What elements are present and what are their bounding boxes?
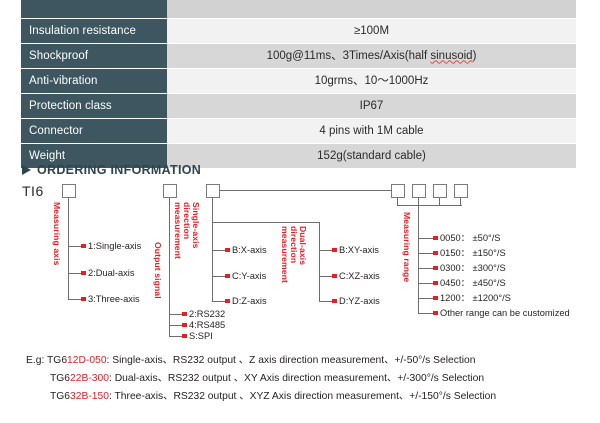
measuring-range-trunk — [418, 205, 419, 313]
option-output-signal-1: 2:RS232 — [189, 309, 225, 319]
bullet-square — [225, 248, 230, 253]
option-output-signal-2: 4:RS485 — [189, 320, 225, 330]
example-code-red-1: 12D-050 — [67, 355, 107, 366]
shockproof-post: ) — [473, 50, 477, 62]
option-dual-axis-1: B:XY-axis — [339, 245, 379, 255]
bullet-square — [433, 311, 438, 316]
example-code-black-1: TG6 — [47, 355, 67, 366]
bullet-square — [433, 236, 438, 241]
bullet-square — [182, 312, 187, 317]
triangle-right-icon — [22, 165, 31, 175]
specification-table: Insulation resistance ≥100M Shockproof 1… — [21, 0, 576, 169]
example-line-1: E.g: TG612D-050: Single-axis、RS232 outpu… — [0, 352, 600, 370]
option-single-axis-1: B:X-axis — [232, 245, 267, 255]
option-measuring-range-1: 0050： ±50°/S — [440, 233, 501, 243]
bullet-square — [433, 266, 438, 271]
bullet-square — [81, 297, 86, 302]
dual-axis-branch-1 — [319, 250, 333, 251]
spec-label-protection-class: Protection class — [21, 93, 167, 118]
bullet-square — [433, 296, 438, 301]
measuring-range-vertical-label: Measuring range — [402, 212, 411, 282]
option-measuring-range-4: 0450： ±450°/S — [440, 278, 506, 288]
bullet-square — [225, 299, 230, 304]
spec-label-connector: Connector — [21, 118, 167, 143]
spec-value-weight: 152g(standard cable) — [167, 143, 576, 168]
output-signal-branch-3 — [169, 336, 183, 337]
measuring-range-branch-5 — [418, 298, 434, 299]
spec-label-partial — [21, 0, 167, 18]
shockproof-pre: 100g@11ms、3Times/Axis(half — [267, 50, 431, 62]
option-output-signal-3: S:SPI — [189, 331, 213, 341]
dual-axis-label-line1: Dual-axis direction — [289, 226, 308, 265]
code-box-range-2[interactable] — [412, 184, 426, 198]
single-axis-branch-3 — [212, 301, 226, 302]
measuring-axis-branch-2 — [68, 273, 82, 274]
spec-value-anti-vibration: 10grms、10～1000Hz — [167, 68, 576, 93]
single-axis-branch-1 — [212, 250, 226, 251]
option-measuring-axis-3: 3:Three-axis — [88, 294, 140, 304]
table-row: Protection class IP67 — [21, 93, 576, 118]
spec-value-shockproof: 100g@11ms、3Times/Axis(half sinusoid) — [167, 43, 576, 68]
option-single-axis-2: C:Y-axis — [232, 271, 266, 281]
option-measuring-range-5: 1200： ±1200°/S — [440, 293, 511, 303]
option-dual-axis-2: C:XZ-axis — [339, 271, 380, 281]
bullet-square — [182, 334, 187, 339]
table-row: Anti-vibration 10grms、10～1000Hz — [21, 68, 576, 93]
measuring-range-branch-3 — [418, 268, 434, 269]
range-stem-4 — [460, 198, 461, 206]
measuring-axis-trunk — [68, 198, 69, 300]
single-axis-label-line2: measurement — [173, 202, 183, 259]
section-heading-text: ORDERING INFORMATION — [37, 163, 201, 177]
option-dual-axis-3: D:YZ-axis — [339, 296, 380, 306]
shockproof-wavy-text: sinusoid — [430, 50, 472, 62]
dual-axis-label-line2: measurement — [280, 226, 290, 283]
dual-axis-trunk — [319, 222, 320, 302]
bullet-square — [332, 248, 337, 253]
measuring-range-branch-2 — [418, 253, 434, 254]
single-axis-label-line1: Single-axis direction — [182, 202, 201, 248]
spec-value-connector: 4 pins with 1M cable — [167, 118, 576, 143]
code-box-measuring-axis[interactable] — [62, 184, 76, 198]
code-box-range-4[interactable] — [454, 184, 468, 198]
measuring-axis-vertical-label: Measuring axis — [52, 202, 61, 266]
spec-value-partial — [167, 0, 576, 18]
code-box-range-1[interactable] — [391, 184, 405, 198]
measuring-axis-branch-1 — [68, 246, 82, 247]
single-axis-vertical-label: Single-axis direction measurement — [172, 202, 200, 272]
table-row: Connector 4 pins with 1M cable — [21, 118, 576, 143]
measuring-range-branch-6 — [418, 313, 434, 314]
dual-axis-vertical-label: Dual-axis direction measurement — [279, 226, 307, 296]
table-row: Shockproof 100g@11ms、3Times/Axis(half si… — [21, 43, 576, 68]
example-desc-1: : Single-axis、RS232 output 、Z axis direc… — [107, 355, 476, 366]
example-code-red-3: 32B-150 — [70, 391, 109, 402]
option-single-axis-3: D:Z-axis — [232, 296, 267, 306]
range-bracket-line — [397, 205, 462, 206]
code-box-range-3[interactable] — [433, 184, 447, 198]
measuring-range-branch-4 — [418, 283, 434, 284]
example-code-black-2: TG6 — [50, 373, 70, 384]
table-row-partial — [21, 0, 576, 18]
dual-axis-branch-3 — [319, 301, 333, 302]
output-signal-branch-1 — [169, 314, 183, 315]
spec-value-insulation-resistance: ≥100M — [167, 18, 576, 43]
code-box-output-signal[interactable] — [163, 184, 177, 198]
bullet-square — [332, 299, 337, 304]
measuring-range-branch-1 — [418, 238, 434, 239]
spec-label-insulation-resistance: Insulation resistance — [21, 18, 167, 43]
connector-line-top — [220, 190, 392, 191]
code-box-axis-direction[interactable] — [206, 184, 220, 198]
bullet-square — [332, 274, 337, 279]
table-body: Insulation resistance ≥100M Shockproof 1… — [21, 0, 576, 168]
output-signal-vertical-label: Output signal — [153, 242, 162, 299]
range-stem-3 — [439, 198, 440, 206]
ordering-examples: E.g: TG612D-050: Single-axis、RS232 outpu… — [0, 352, 600, 406]
dual-axis-branch-2 — [319, 276, 333, 277]
example-desc-3: : Three-axis、RS232 output 、XYZ Axis dire… — [109, 391, 496, 402]
bullet-square — [182, 323, 187, 328]
example-code-black-3: TG6 — [50, 391, 70, 402]
example-prefix: E.g: — [26, 355, 44, 366]
option-measuring-range-6: Other range can be customized — [440, 308, 570, 318]
option-measuring-range-3: 0300： ±300°/S — [440, 263, 506, 273]
output-signal-branch-2 — [169, 325, 183, 326]
spec-label-shockproof: Shockproof — [21, 43, 167, 68]
range-stem-1 — [397, 198, 398, 206]
single-axis-branch-2 — [212, 276, 226, 277]
example-line-3: TG632B-150: Three-axis、RS232 output 、XYZ… — [0, 388, 600, 406]
example-code-red-2: 22B-300 — [70, 373, 109, 384]
bullet-square — [433, 281, 438, 286]
example-desc-2: : Dual-axis、RS232 output 、XY Axis direct… — [109, 373, 484, 384]
bullet-square — [225, 274, 230, 279]
measuring-axis-branch-3 — [68, 299, 82, 300]
model-prefix-label: TI6 — [22, 183, 44, 199]
spec-value-protection-class: IP67 — [167, 93, 576, 118]
page-title: ORDERING INFORMATION — [22, 163, 201, 177]
bullet-square — [433, 251, 438, 256]
bullet-square — [81, 271, 86, 276]
ordering-code-diagram: TI6 Measuring axis 1:Single-axis 2:Dual-… — [0, 180, 600, 350]
spec-label-anti-vibration: Anti-vibration — [21, 68, 167, 93]
option-measuring-axis-2: 2:Dual-axis — [88, 268, 135, 278]
table-row: Insulation resistance ≥100M — [21, 18, 576, 43]
output-signal-trunk — [169, 198, 170, 337]
example-line-2: TG622B-300: Dual-axis、RS232 output 、XY A… — [0, 370, 600, 388]
bullet-square — [81, 244, 86, 249]
option-measuring-axis-1: 1:Single-axis — [88, 241, 141, 251]
option-measuring-range-2: 0150： ±150°/S — [440, 248, 506, 258]
dual-axis-connector — [212, 222, 320, 223]
